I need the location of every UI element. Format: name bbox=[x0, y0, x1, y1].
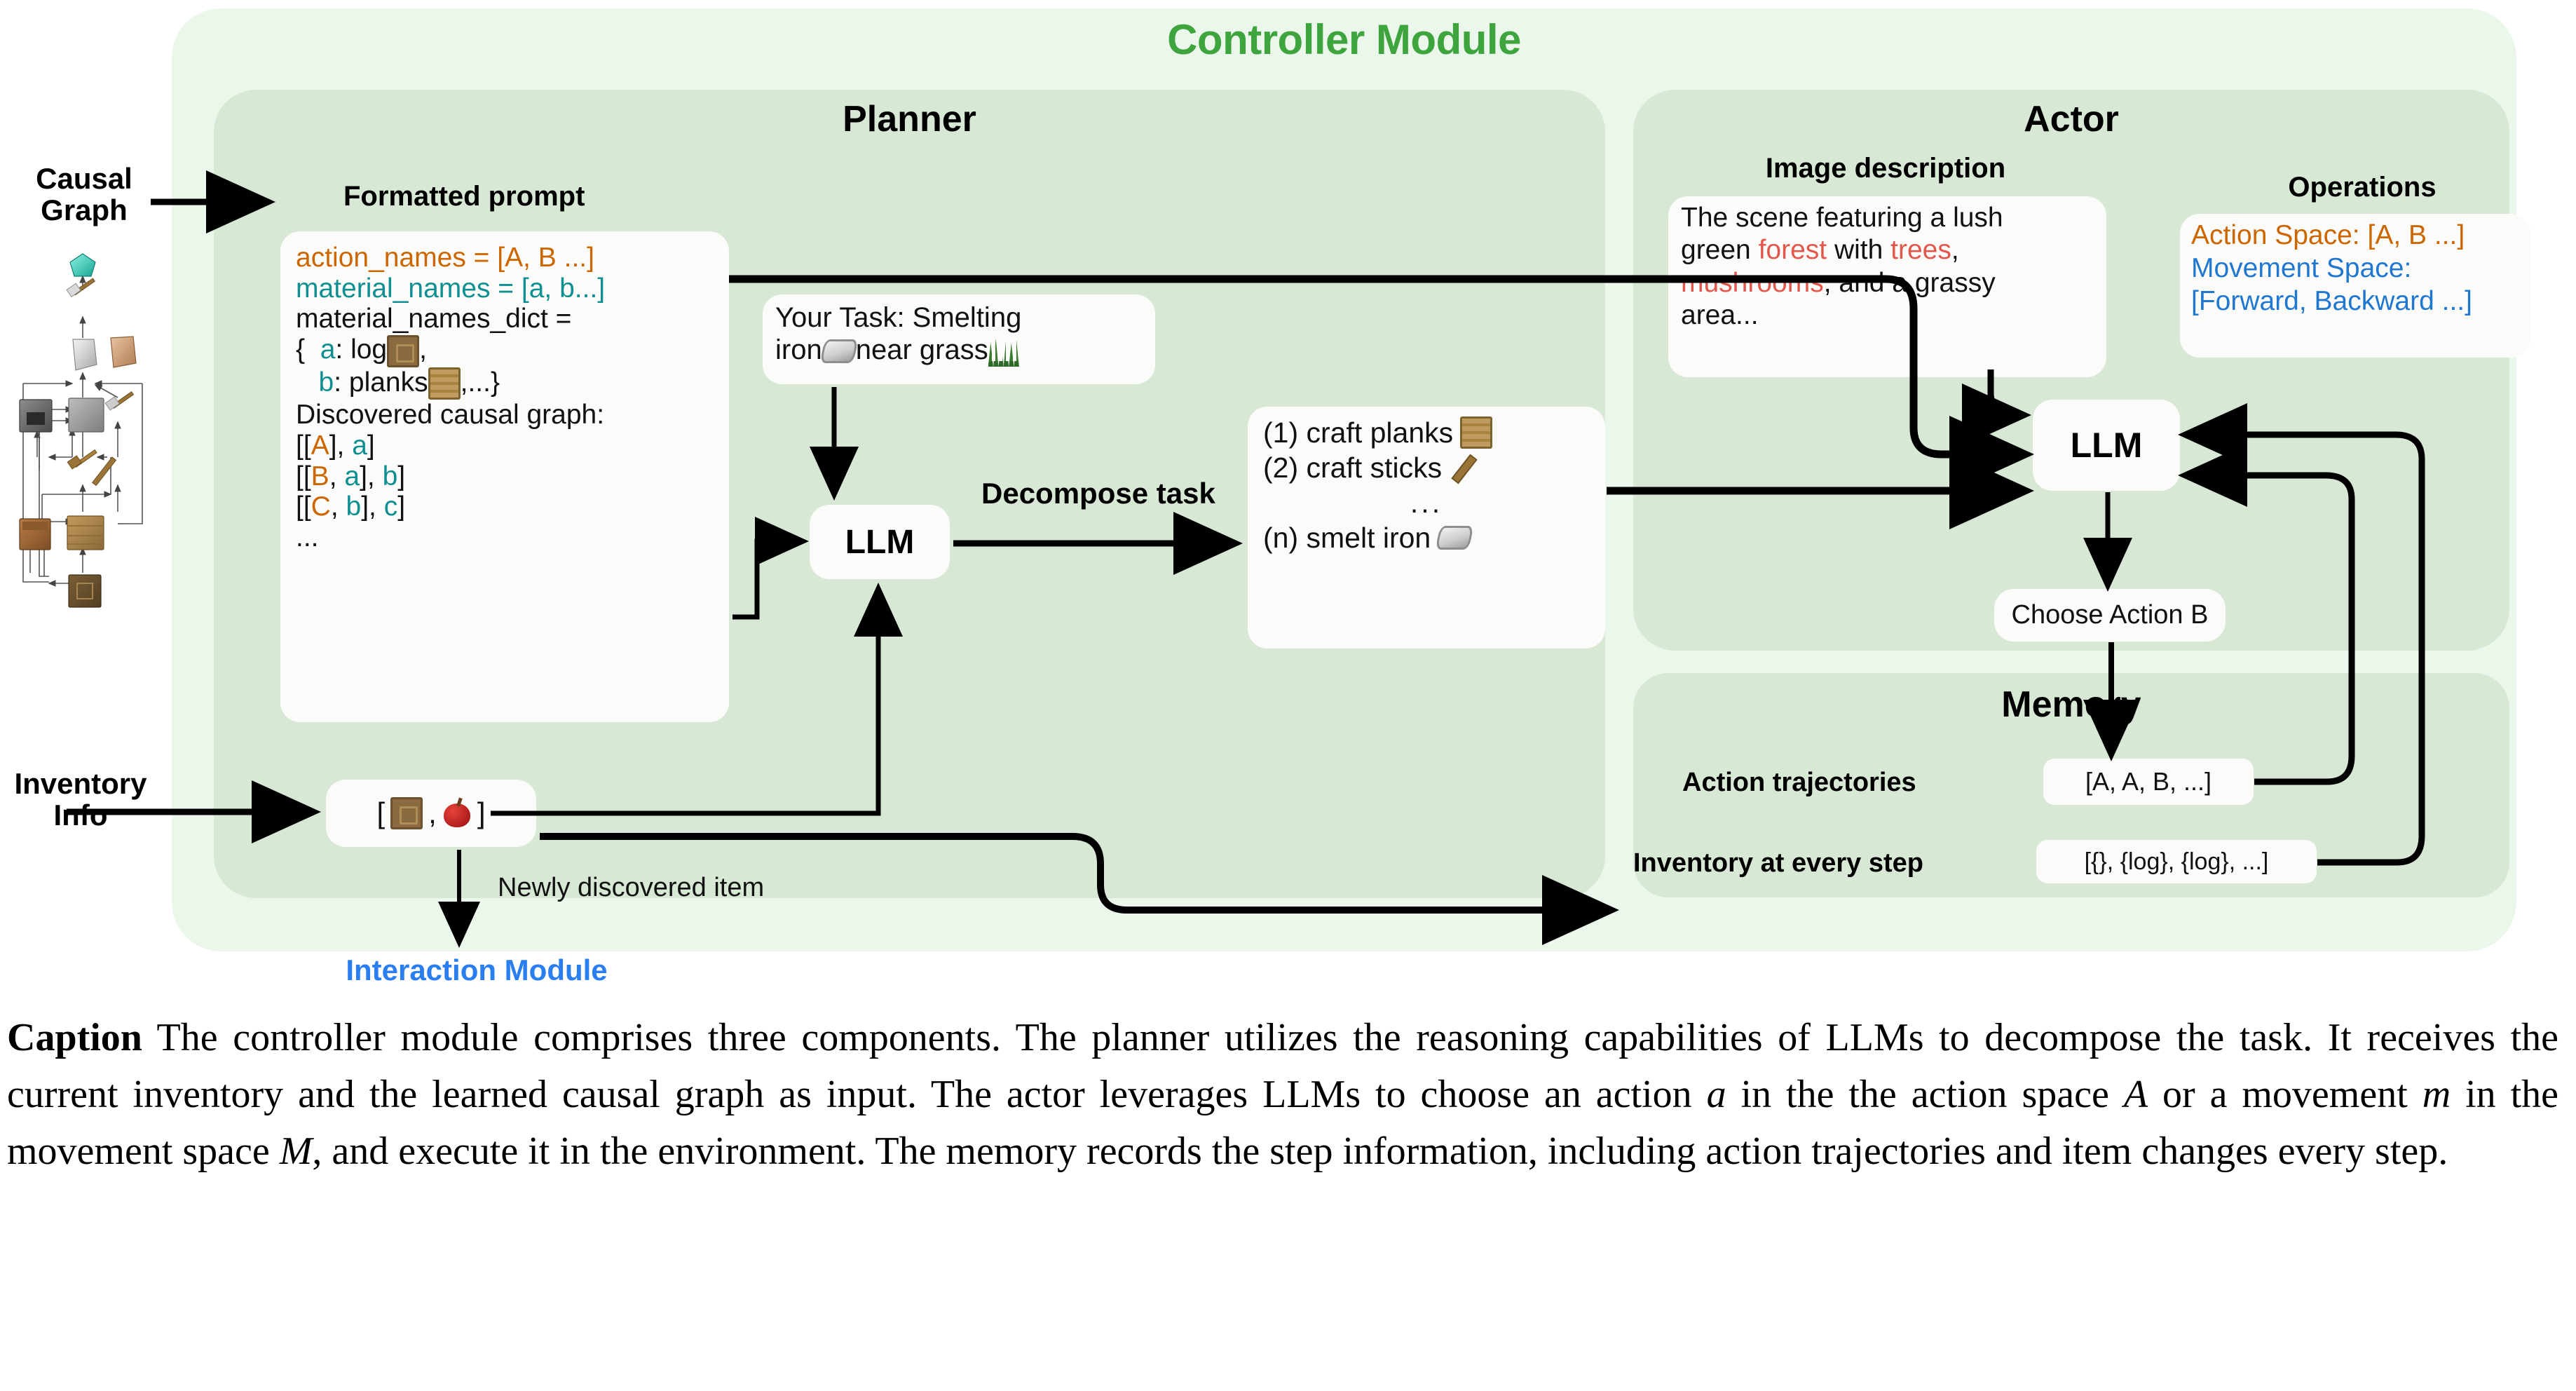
imgdesc-green-word: green bbox=[1681, 235, 1759, 265]
subtask-row-1: (1) craft planks bbox=[1263, 415, 1590, 450]
prompt-line-discovered-graph: Discovered causal graph: bbox=[296, 400, 714, 430]
figure-caption: Caption The controller module comprises … bbox=[7, 1010, 2558, 1181]
image-description-label: Image description bbox=[1668, 153, 2103, 184]
iron-ingot-icon bbox=[819, 339, 858, 363]
action-trajectories-value: [A, A, B, ...] bbox=[2085, 767, 2212, 796]
prompt-line-material-names: material_names = [a, b...] bbox=[296, 273, 714, 304]
prompt-line-b-planks: b: planks,...} bbox=[296, 367, 714, 400]
prompt-line-action-names: action_names = [A, B ...] bbox=[296, 243, 714, 273]
task-line-2: ironnear grass bbox=[775, 334, 1143, 367]
caption-body-3: or a movement bbox=[2148, 1073, 2422, 1116]
caption-math-a: a bbox=[1707, 1073, 1726, 1116]
causal-graph-input-label: Causal Graph bbox=[7, 163, 161, 226]
inventory-bracket-open: [ bbox=[376, 796, 385, 830]
log-icon bbox=[387, 335, 419, 367]
prompt-line-edge-2: [[B, a], b] bbox=[296, 461, 714, 492]
prompt-line-edge-3: [[C, b], c] bbox=[296, 491, 714, 522]
task-iron-word: iron bbox=[775, 334, 822, 365]
inventory-separator: , bbox=[428, 796, 437, 830]
subtask-row-ellipsis: ... bbox=[1263, 485, 1590, 520]
action-space-value: Action Space: [A, B ...] bbox=[2191, 219, 2519, 252]
imgdesc-trees-word: trees bbox=[1890, 235, 1951, 265]
planner-llm-node[interactable]: LLM bbox=[810, 505, 950, 579]
choose-action-card: Choose Action B bbox=[1994, 589, 2226, 642]
stick-icon bbox=[1449, 452, 1480, 483]
causal-graph-label-line1: Causal bbox=[7, 163, 161, 194]
subtask-text-2: (2) craft sticks bbox=[1263, 450, 1442, 485]
subtask-text-1: (1) craft planks bbox=[1263, 415, 1453, 450]
inventory-info-label-line1: Inventory bbox=[0, 768, 161, 799]
imgdesc-comma: , bbox=[1951, 235, 1959, 265]
inventory-every-step-value-card: [{}, {log}, {log}, ...] bbox=[2036, 840, 2317, 883]
image-description-line-4: area... bbox=[1681, 299, 2094, 332]
memory-title: Memory bbox=[1633, 684, 2509, 726]
subtask-row-2: (2) craft sticks bbox=[1263, 450, 1590, 485]
subtasks-card: (1) craft planks (2) craft sticks ... (n… bbox=[1248, 407, 1605, 649]
caption-body-5: , and execute it in the environment. The… bbox=[312, 1129, 2448, 1173]
prompt-line-material-dict: material_names_dict = bbox=[296, 304, 714, 334]
formatted-prompt-label: Formatted prompt bbox=[343, 181, 585, 212]
image-description-line-2: green forest with trees, bbox=[1681, 234, 2094, 266]
interaction-module-link[interactable]: Interaction Module bbox=[294, 954, 659, 987]
choose-action-label: Choose Action B bbox=[2012, 600, 2209, 630]
image-description-card: The scene featuring a lush green forest … bbox=[1668, 196, 2106, 377]
grass-icon bbox=[988, 336, 1021, 367]
operations-card: Action Space: [A, B ...] Movement Space:… bbox=[2180, 214, 2530, 358]
inventory-every-step-label: Inventory at every step bbox=[1633, 848, 1923, 878]
planner-title: Planner bbox=[214, 98, 1605, 140]
caption-math-m: m bbox=[2422, 1073, 2451, 1116]
imgdesc-forest-word: forest bbox=[1759, 235, 1827, 265]
inventory-items-card: [ , ] bbox=[326, 780, 536, 847]
actor-llm-label: LLM bbox=[2071, 425, 2143, 466]
planks-icon bbox=[428, 367, 461, 400]
inventory-every-step-value: [{}, {log}, {log}, ...] bbox=[2085, 848, 2269, 876]
inventory-info-input-label: Inventory Info bbox=[0, 768, 161, 832]
prompt-line-ellipsis: ... bbox=[296, 522, 714, 553]
inventory-info-label-line2: Info bbox=[0, 799, 161, 831]
inventory-bracket-close: ] bbox=[477, 796, 486, 830]
actor-llm-node[interactable]: LLM bbox=[2033, 400, 2180, 491]
image-description-line-3: mushrooms, and a grassy bbox=[1681, 267, 2094, 299]
decompose-task-label: Decompose task bbox=[981, 477, 1215, 510]
causal-graph-label-line2: Graph bbox=[7, 194, 161, 226]
iron-ingot-icon bbox=[1436, 526, 1474, 550]
action-trajectories-value-card: [A, A, B, ...] bbox=[2043, 759, 2254, 805]
caption-math-A: A bbox=[2124, 1073, 2148, 1116]
subtask-text-4: (n) smelt iron bbox=[1263, 520, 1431, 555]
action-trajectories-label: Action trajectories bbox=[1682, 768, 1916, 798]
planner-llm-label: LLM bbox=[845, 523, 915, 562]
planks-icon bbox=[1460, 416, 1492, 449]
controller-module-title: Controller Module bbox=[172, 15, 2516, 64]
caption-body-2: in the the action space bbox=[1726, 1073, 2124, 1116]
operations-label: Operations bbox=[2215, 172, 2509, 203]
movement-space-value: [Forward, Backward ...] bbox=[2191, 285, 2519, 318]
imgdesc-with-word: with bbox=[1827, 235, 1890, 265]
movement-space-label: Movement Space: bbox=[2191, 252, 2519, 285]
log-icon bbox=[390, 797, 423, 829]
imgdesc-tail: , and a grassy bbox=[1824, 268, 1996, 298]
prompt-line-a-log: { a: log, bbox=[296, 334, 714, 367]
image-description-line-1: The scene featuring a lush bbox=[1681, 202, 2094, 234]
subtask-text-3: ... bbox=[1263, 485, 1590, 520]
prompt-line-edge-1: [[A], a] bbox=[296, 430, 714, 461]
apple-icon bbox=[442, 798, 472, 829]
caption-math-M: M bbox=[280, 1129, 313, 1173]
actor-title: Actor bbox=[1633, 98, 2509, 140]
imgdesc-mushrooms-word: mushrooms bbox=[1681, 268, 1824, 298]
subtask-row-n: (n) smelt iron bbox=[1263, 520, 1590, 555]
causal-graph-figure bbox=[6, 247, 165, 611]
task-grass-words: near grass bbox=[856, 334, 988, 365]
task-line-1: Your Task: Smelting bbox=[775, 301, 1143, 334]
your-task-card: Your Task: Smelting ironnear grass bbox=[763, 294, 1155, 384]
newly-discovered-item-label: Newly discovered item bbox=[498, 873, 764, 903]
formatted-prompt-card: action_names = [A, B ...] material_names… bbox=[280, 231, 729, 722]
caption-lead: Caption bbox=[7, 1016, 142, 1059]
